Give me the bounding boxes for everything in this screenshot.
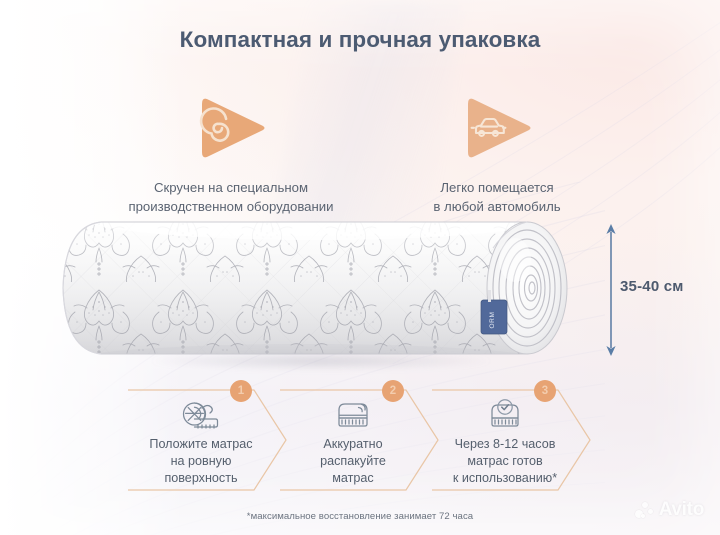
step-ready-to-use: Через 8-12 часов матрас готов к использо… [430, 386, 606, 494]
mattress-check-icon [430, 394, 580, 437]
step-number-badge: 1 [230, 380, 252, 402]
spiral-roll-icon [190, 92, 272, 164]
step-caption: Через 8-12 часов матрас готов к использо… [432, 436, 578, 487]
svg-text:ORM: ORM [489, 312, 496, 329]
step-unpack-mattress: Аккуратно распакуйте матрас 2 [278, 386, 454, 494]
feature-line: Легко помещается [382, 178, 612, 197]
step-line: поверхность [128, 470, 274, 487]
step-place-mattress: Положите матрас на ровную поверхность 1 [126, 386, 302, 494]
step-caption: Положите матрас на ровную поверхность [128, 436, 274, 487]
feature-line: Скручен на специальном [116, 178, 346, 197]
step-line: распакуйте [280, 453, 426, 470]
step-number-badge: 3 [534, 380, 556, 402]
page-title: Компактная и прочная упаковка [0, 27, 720, 53]
feature-packaging-rolled: Скручен на специальном производственном … [116, 92, 346, 216]
dimension-label: 35-40 см [620, 278, 684, 295]
footnote: *максимальное восстановление занимает 72… [0, 511, 720, 522]
step-line: к использованию* [432, 470, 578, 487]
avito-logo-icon [635, 501, 654, 520]
step-caption: Аккуратно распакуйте матрас [280, 436, 426, 487]
step-line: на ровную [128, 453, 274, 470]
avito-wordmark: Avito [659, 499, 704, 521]
roll-shadow [81, 350, 561, 372]
step-line: матрас [280, 470, 426, 487]
step-line: Аккуратно [280, 436, 426, 453]
steps-row: Положите матрас на ровную поверхность 1 [126, 386, 606, 496]
feature-fits-any-car: Легко помещается в любой автомобиль [382, 92, 612, 216]
unpack-mattress-icon [278, 394, 428, 437]
step-line: матрас готов [432, 453, 578, 470]
step-line: Положите матрас [128, 436, 274, 453]
step-number-badge: 2 [382, 380, 404, 402]
promo-banner: Компактная и прочная упаковка Скручен на… [0, 0, 720, 535]
car-icon [456, 92, 538, 164]
dimension-arrow [600, 222, 622, 358]
avito-watermark: Avito [635, 499, 704, 521]
rolled-mattress-icon [126, 394, 276, 437]
rolled-mattress-photo: ORM [57, 204, 597, 372]
step-line: Через 8-12 часов [432, 436, 578, 453]
